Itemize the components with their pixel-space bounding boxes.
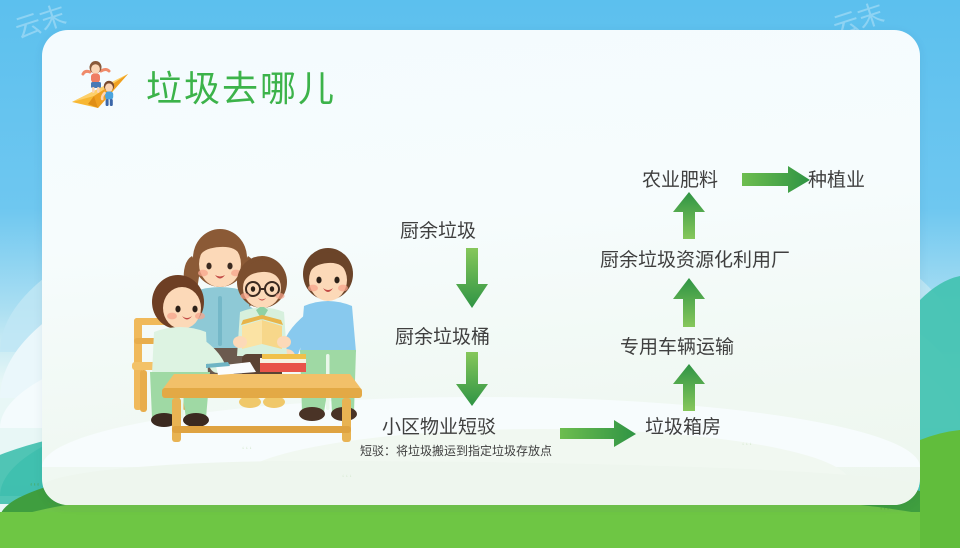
- page-title: 垃圾去哪儿: [146, 60, 336, 112]
- card-hill-front: [42, 461, 920, 505]
- arrow-plant-to-fertilizer: [672, 192, 706, 240]
- grass-tuft: ʻʻʻ: [880, 506, 890, 518]
- arrow-kitchen-to-bin: [454, 248, 490, 310]
- content-card: ʻʻʻ ʻʻʻ ʻʻʻ: [42, 30, 920, 505]
- students-and-teacher-at-desk-illustration: [120, 222, 390, 447]
- grass-tuft: ʻʻʻ: [30, 482, 40, 494]
- node-dedicated-vehicle: 专用车辆运输: [620, 332, 734, 359]
- slide-header: 垃圾去哪儿: [68, 58, 336, 114]
- node-agricultural-fertilizer: 农业肥料: [642, 165, 718, 192]
- paper-plane-with-kids-icon: [68, 58, 132, 114]
- transfer-note: 短驳：将垃圾搬运到指定垃圾存放点: [360, 442, 552, 459]
- arrow-vehicle-to-plant: [672, 278, 706, 328]
- arrow-fertilizer-to-planting: [742, 166, 812, 194]
- node-kitchen-waste: 厨余垃圾: [400, 216, 476, 243]
- card-grass-tuft: ʻʻʻ: [742, 442, 753, 453]
- background-hill-green-front: [0, 512, 960, 548]
- card-grass-tuft: ʻʻʻ: [342, 474, 353, 485]
- right-edge-accent: [920, 0, 960, 548]
- arrow-transfer-to-boxroom: [560, 420, 638, 448]
- grass-tuft: ʻʻ: [48, 502, 55, 514]
- node-recycling-plant: 厨余垃圾资源化利用厂: [600, 245, 790, 272]
- node-planting-industry: 种植业: [808, 165, 865, 192]
- node-kitchen-waste-bin: 厨余垃圾桶: [395, 322, 490, 349]
- card-grass-tuft: ʻʻʻ: [242, 446, 253, 457]
- node-garbage-box-room: 垃圾箱房: [645, 412, 721, 439]
- arrow-bin-to-transfer: [454, 352, 490, 408]
- slide-canvas: ʻʻʻ ʻʻ ʻʻʻ ʻʻʻ 云末 云末 ʻʻʻ ʻʻʻ ʻʻʻ: [0, 0, 960, 548]
- arrow-boxroom-to-vehicle: [672, 364, 706, 412]
- node-community-transfer: 小区物业短驳: [382, 412, 496, 439]
